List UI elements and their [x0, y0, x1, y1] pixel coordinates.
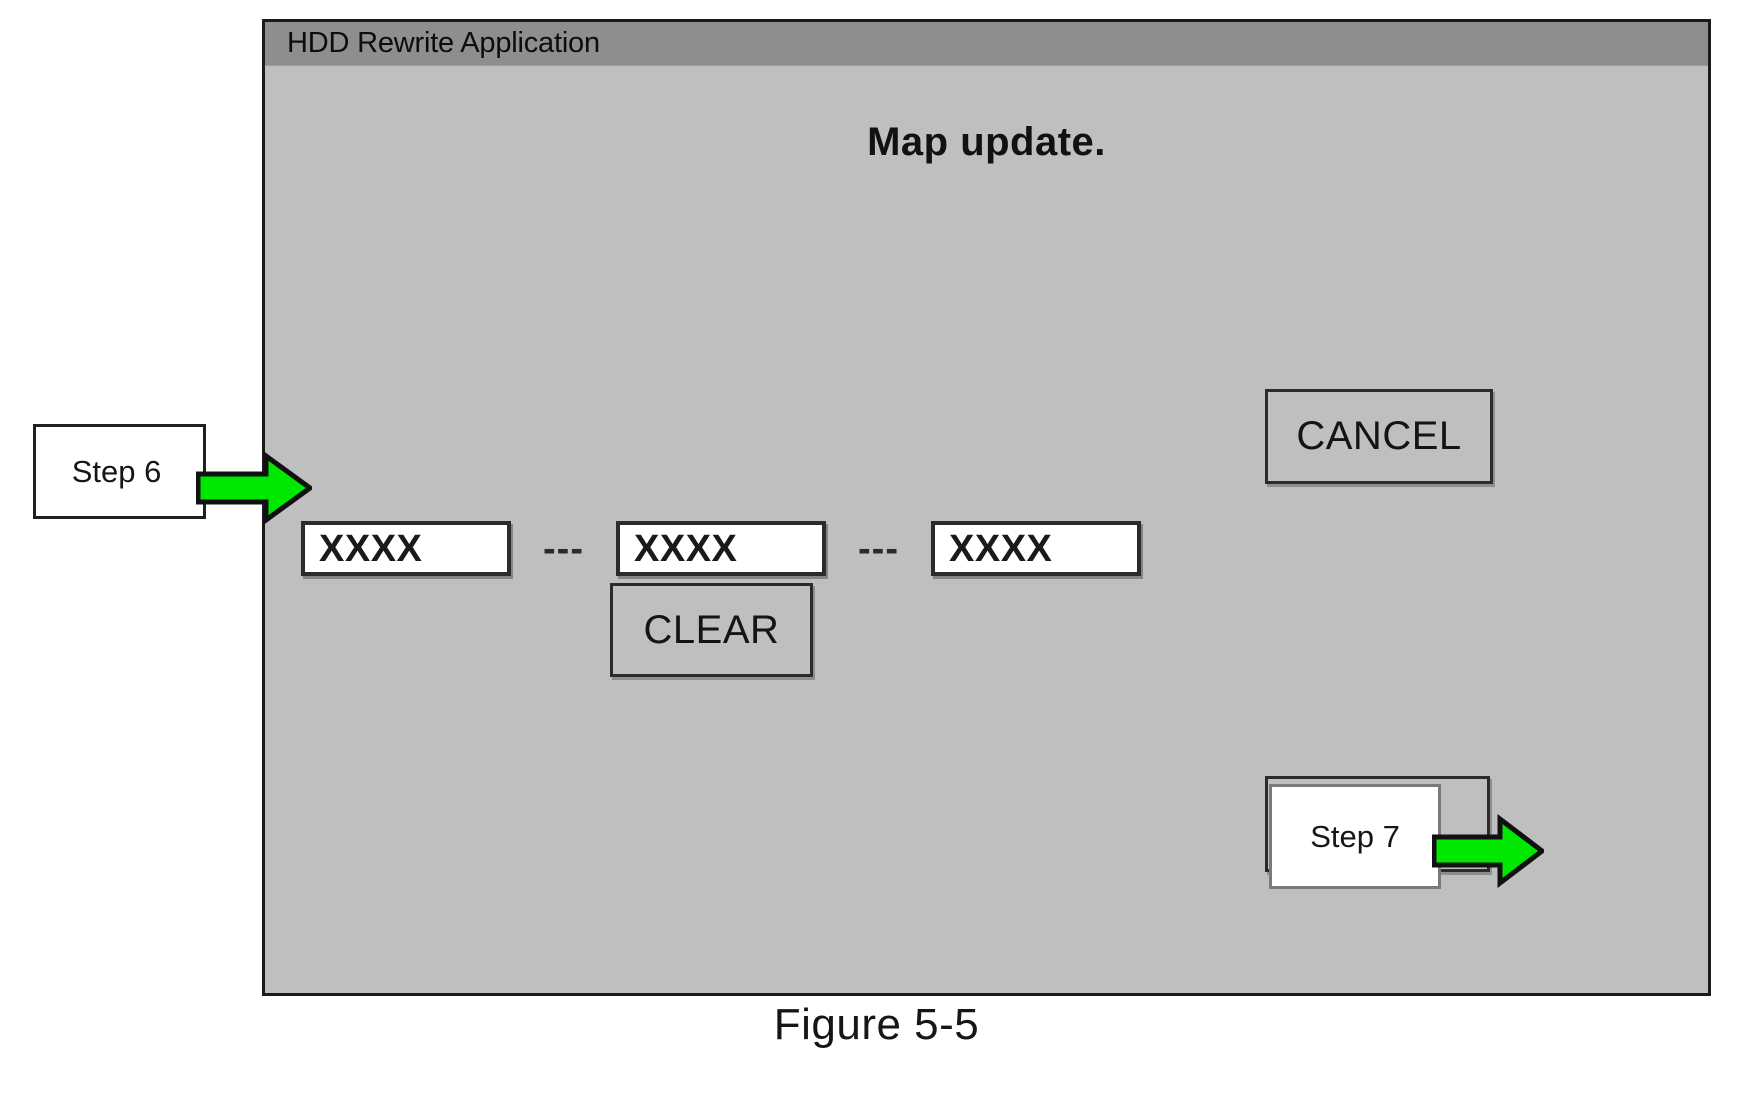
dialog-title: HDD Rewrite Application	[265, 27, 600, 60]
clear-button-label: CLEAR	[644, 608, 780, 653]
callout-step-7: Step 7	[1269, 784, 1441, 889]
map-field-2-value: XXXX	[620, 530, 737, 568]
map-code-input-row: XXXX --- XXXX --- XXXX	[301, 521, 1141, 576]
map-field-3-value: XXXX	[935, 530, 1052, 568]
hdd-rewrite-dialog: HDD Rewrite Application Map update. XXXX…	[262, 19, 1711, 996]
dialog-titlebar: HDD Rewrite Application	[265, 22, 1708, 66]
map-field-2[interactable]: XXXX	[616, 521, 826, 576]
callout-step-6-label: Step 6	[72, 454, 168, 490]
callout-step-6: Step 6	[33, 424, 206, 519]
field-separator-1: ---	[511, 530, 616, 568]
callout-step-7-label: Step 7	[1310, 819, 1400, 855]
map-field-3[interactable]: XXXX	[931, 521, 1141, 576]
cancel-button[interactable]: CANCEL	[1265, 389, 1493, 484]
cancel-button-label: CANCEL	[1296, 414, 1461, 459]
green-right-arrow-icon	[1432, 813, 1544, 889]
map-field-1[interactable]: XXXX	[301, 521, 511, 576]
dialog-body: Map update. XXXX --- XXXX --- XXXX CANCE…	[265, 66, 1708, 993]
map-field-1-value: XXXX	[305, 530, 422, 568]
green-right-arrow-icon	[196, 452, 312, 524]
field-separator-2: ---	[826, 530, 931, 568]
clear-button[interactable]: CLEAR	[610, 583, 813, 677]
page-title: Map update.	[265, 120, 1708, 165]
figure-caption: Figure 5-5	[0, 1000, 1753, 1050]
